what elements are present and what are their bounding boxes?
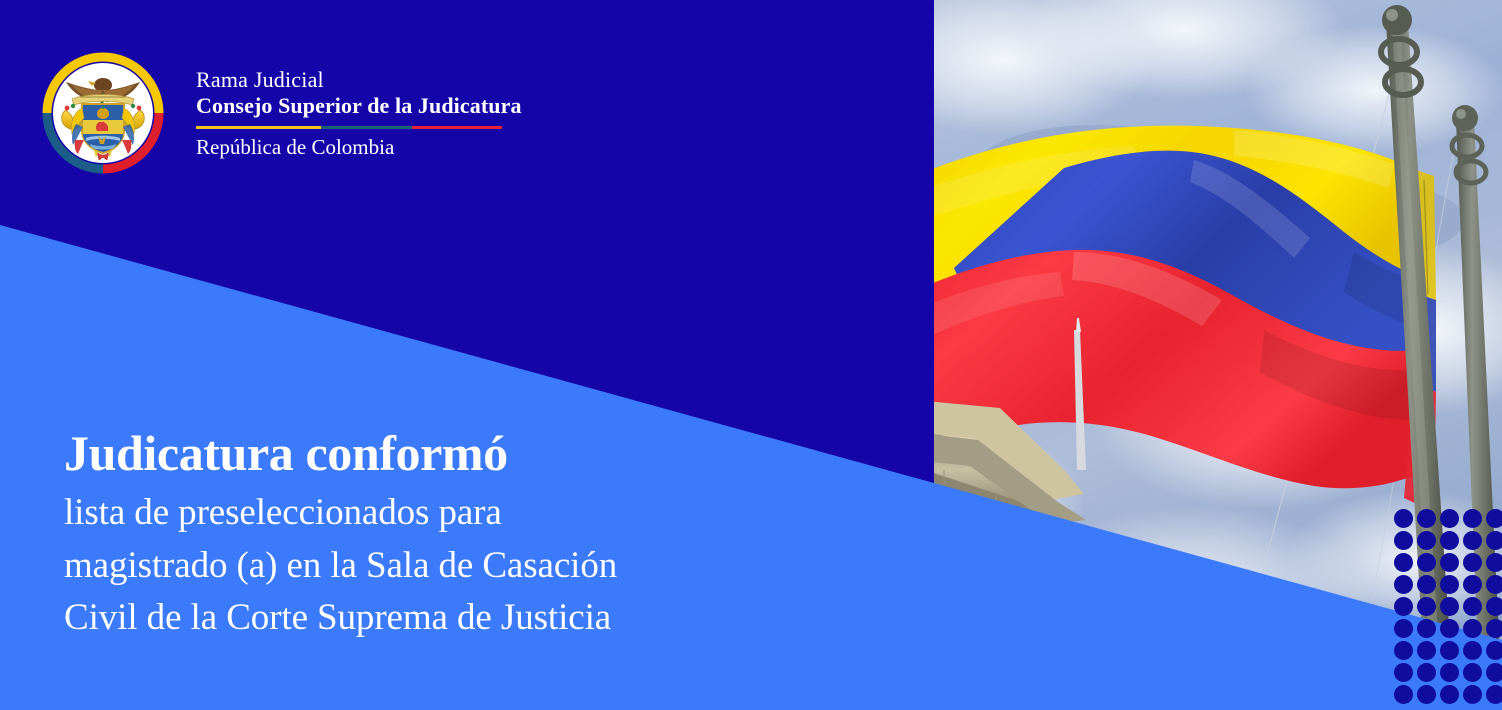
rama-judicial-logo: Rama Judicial Consejo Superior de la Jud… [42,52,522,174]
grid-dot [1440,597,1459,616]
logo-line-republica-de-colombia: República de Colombia [196,137,522,158]
grid-dot [1486,575,1502,594]
headline-subtitle: lista de preseleccionados para magistrad… [64,487,824,645]
grid-dot [1486,641,1502,660]
headline-main: Judicatura conformó [64,428,824,479]
grid-dot [1463,597,1482,616]
headline-sub-line-2: magistrado (a) en la Sala de Casación [64,540,824,593]
grid-dot [1463,619,1482,638]
logo-tricolor-rule [196,126,502,129]
colombia-coat-of-arms-emblem [42,52,164,174]
grid-dot [1463,531,1482,550]
grid-dot [1417,619,1436,638]
grid-dot [1486,553,1502,572]
grid-dot [1394,531,1413,550]
grid-dot [1440,641,1459,660]
grid-dot [1463,575,1482,594]
grid-dot [1486,597,1502,616]
grid-dot [1486,619,1502,638]
grid-dot [1417,685,1436,704]
grid-dot [1463,641,1482,660]
grid-dot [1463,553,1482,572]
grid-dot [1440,509,1459,528]
logo-line-consejo-superior: Consejo Superior de la Judicatura [196,95,522,117]
grid-dot [1417,509,1436,528]
grid-dot [1394,575,1413,594]
rule-segment-yellow [196,126,321,129]
grid-dot [1440,531,1459,550]
grid-dot [1440,685,1459,704]
grid-dot [1440,553,1459,572]
grid-dot [1394,685,1413,704]
grid-dot [1417,575,1436,594]
grid-dot [1394,509,1413,528]
grid-dot [1394,619,1413,638]
grid-dot [1440,619,1459,638]
grid-dot [1394,663,1413,682]
headline-sub-line-3: Civil de la Corte Suprema de Justicia [64,592,824,645]
rule-segment-red [412,126,502,129]
grid-dot [1440,575,1459,594]
grid-dot [1486,685,1502,704]
logo-text-block: Rama Judicial Consejo Superior de la Jud… [196,69,522,158]
grid-dot [1486,531,1502,550]
grid-dot [1417,597,1436,616]
grid-dot [1394,597,1413,616]
news-promo-banner: Rama Judicial Consejo Superior de la Jud… [0,0,1502,710]
headline-sub-line-1: lista de preseleccionados para [64,487,824,540]
grid-dot [1486,509,1502,528]
rule-segment-teal [321,126,412,129]
grid-dot [1463,663,1482,682]
grid-dot [1417,641,1436,660]
decorative-dot-grid [1394,509,1502,710]
grid-dot [1394,553,1413,572]
grid-dot [1417,531,1436,550]
grid-dot [1440,663,1459,682]
grid-dot [1417,553,1436,572]
grid-dot [1417,663,1436,682]
grid-dot [1463,685,1482,704]
grid-dot [1463,509,1482,528]
grid-dot [1486,663,1502,682]
headline-block: Judicatura conformó lista de preseleccio… [64,428,824,645]
grid-dot [1394,641,1413,660]
logo-line-rama-judicial: Rama Judicial [196,69,522,91]
